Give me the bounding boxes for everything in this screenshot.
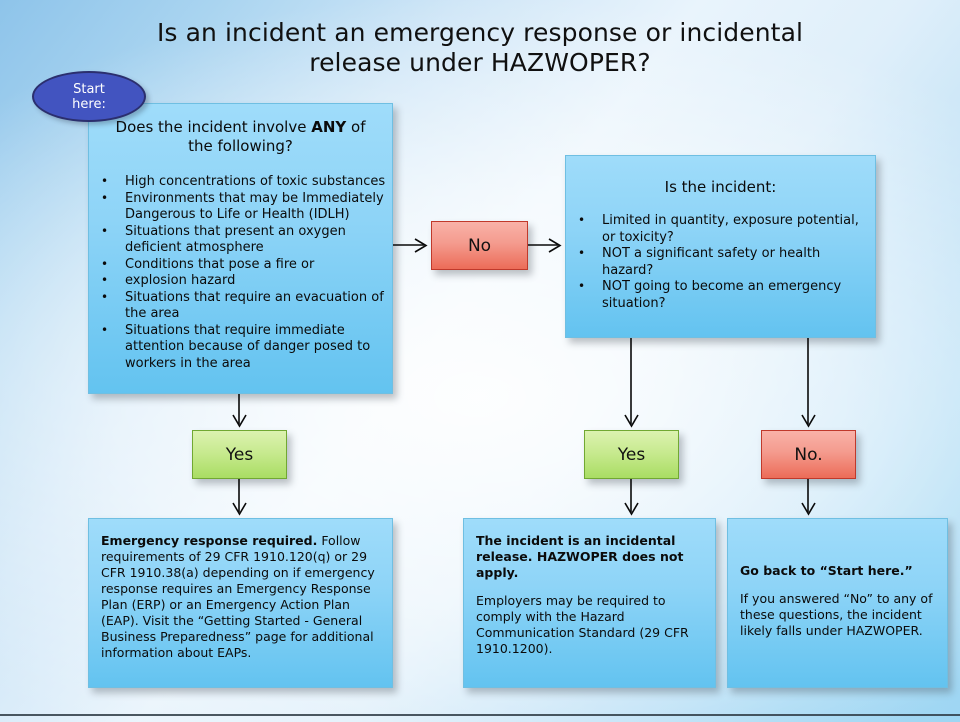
start-marker-line1: Start [73,82,105,97]
start-marker-line2: here: [72,97,106,112]
start-here-marker: Start here: [32,71,146,122]
arrow-left-question-to-no [0,0,960,722]
flowchart-slide: Is an incident an emergency response or … [0,0,960,722]
